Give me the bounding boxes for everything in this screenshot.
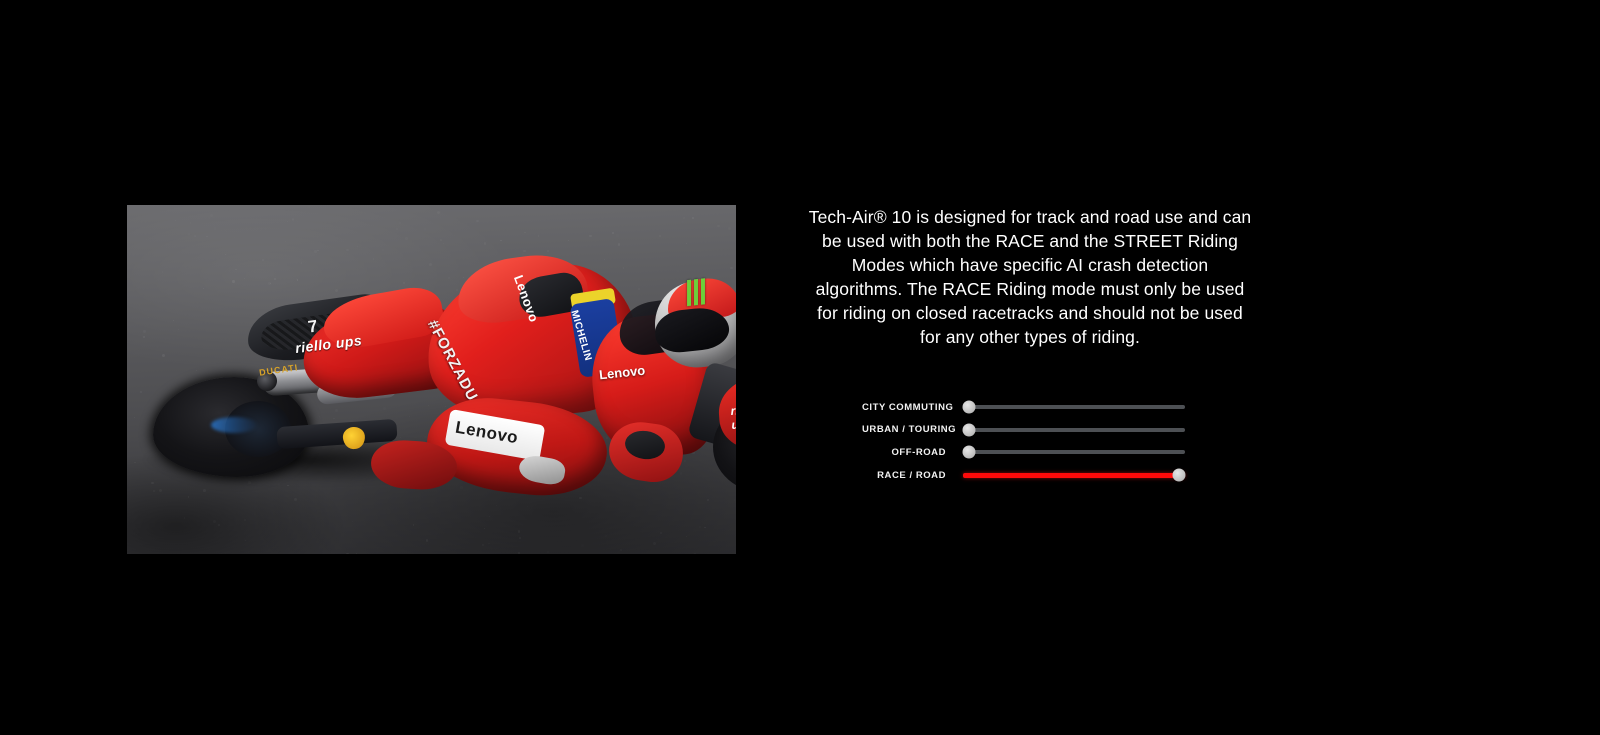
slider-race-road[interactable] bbox=[963, 466, 1185, 484]
riding-mode-row-city-commuting[interactable]: CITY COMMUTING bbox=[862, 396, 1260, 419]
product-description: Tech-Air® 10 is designed for track and r… bbox=[800, 205, 1260, 349]
motorcycle-illustration: 7 riello ups DUCATI Lenovo #FORZADUCATI … bbox=[127, 205, 736, 554]
slider-track[interactable] bbox=[963, 405, 1185, 409]
slider-track[interactable] bbox=[963, 450, 1185, 454]
slider-track[interactable] bbox=[963, 428, 1185, 432]
monster-energy-icon bbox=[683, 277, 713, 306]
slider-urban-touring[interactable] bbox=[963, 421, 1185, 439]
slider-handle[interactable] bbox=[963, 423, 976, 436]
slider-track-active[interactable] bbox=[963, 473, 1185, 478]
hero-image: 7 riello ups DUCATI Lenovo #FORZADUCATI … bbox=[127, 205, 736, 554]
sponsor-riello-front: riello ups bbox=[730, 402, 736, 432]
content-column: Tech-Air® 10 is designed for track and r… bbox=[800, 205, 1260, 486]
slider-city-commuting[interactable] bbox=[963, 398, 1185, 416]
riding-modes-list: CITY COMMUTING URBAN / TOURING OFF-ROAD bbox=[800, 396, 1260, 486]
riding-mode-row-race-road[interactable]: RACE / ROAD bbox=[862, 464, 1260, 487]
rear-hub-highlight bbox=[211, 417, 257, 433]
riding-mode-label-race-road: RACE / ROAD bbox=[862, 470, 963, 481]
riding-mode-label-off-road: OFF-ROAD bbox=[862, 447, 963, 458]
riding-mode-label-urban-touring: URBAN / TOURING bbox=[862, 424, 963, 435]
riding-mode-label-city-commuting: CITY COMMUTING bbox=[862, 402, 963, 413]
slider-off-road[interactable] bbox=[963, 443, 1185, 461]
page-root: 7 riello ups DUCATI Lenovo #FORZADUCATI … bbox=[0, 0, 1600, 735]
slider-handle[interactable] bbox=[963, 446, 976, 459]
slider-handle-active[interactable] bbox=[1173, 469, 1186, 482]
slider-handle[interactable] bbox=[963, 401, 976, 414]
riding-mode-row-off-road[interactable]: OFF-ROAD bbox=[862, 441, 1260, 464]
riding-mode-row-urban-touring[interactable]: URBAN / TOURING bbox=[862, 419, 1260, 442]
